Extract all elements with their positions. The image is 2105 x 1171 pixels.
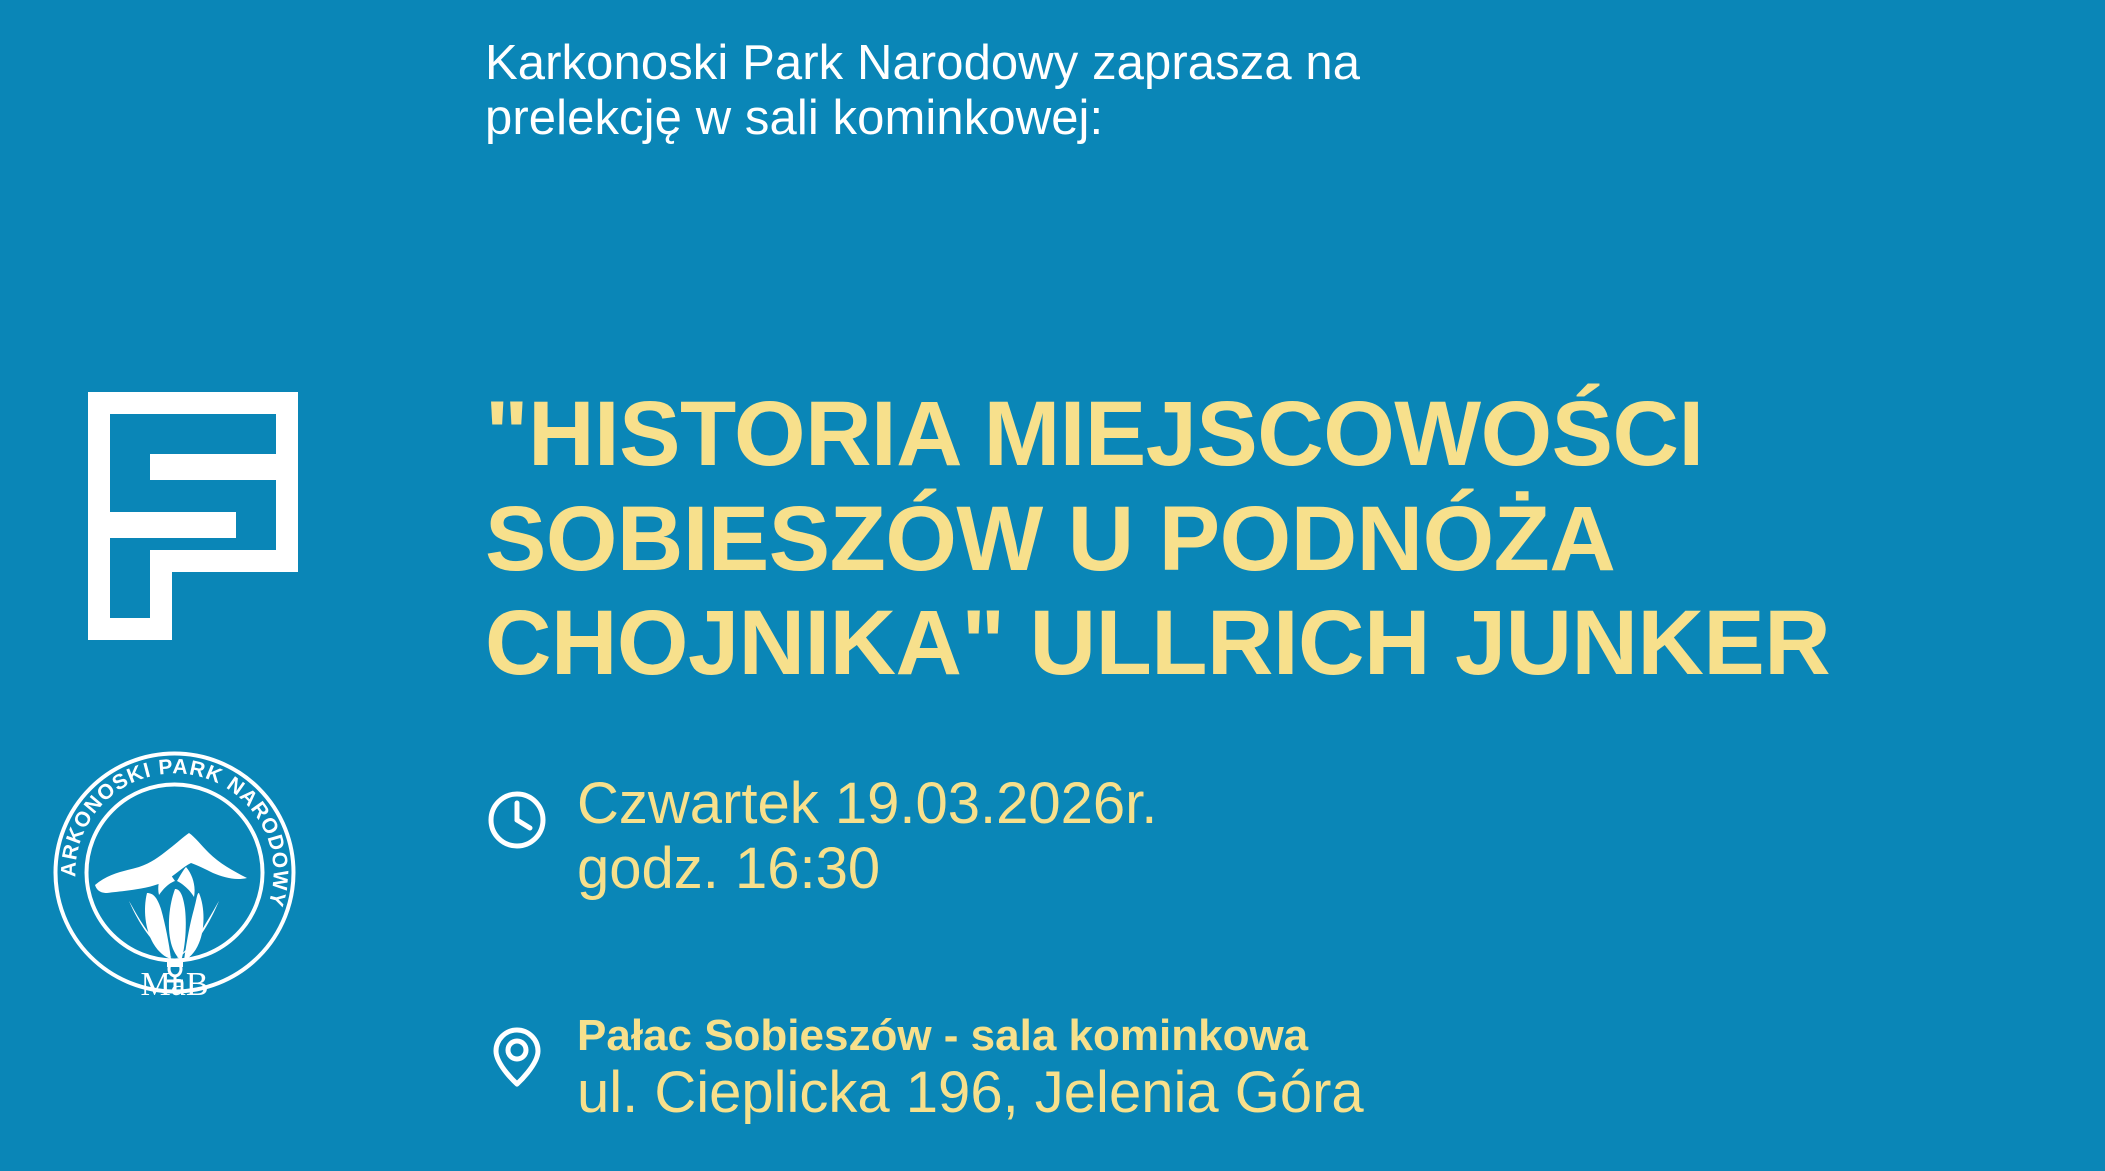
date-time-text: Czwartek 19.03.2026r. godz. 16:30 [577, 772, 1157, 902]
intro-line-2: prelekcję w sali kominkowej: [485, 91, 1585, 146]
map-pin-icon [485, 1024, 549, 1093]
location-text: Pałac Sobieszów - sala kominkowa ul. Cie… [577, 1010, 1364, 1126]
intro-line-1: Karkonoski Park Narodowy zaprasza na [485, 36, 1585, 91]
f-monogram-logo [88, 392, 298, 640]
logo-column: KARKONOSKI PARK NARODOWY [0, 0, 470, 1171]
seal-mab-label: MaB [141, 966, 209, 1000]
location-row: Pałac Sobieszów - sala kominkowa ul. Cie… [485, 1010, 1364, 1126]
event-title: "HISTORIA MIEJSCOWOŚCI SOBIESZÓW U PODNÓ… [485, 382, 2075, 697]
date-line: Czwartek 19.03.2026r. [577, 772, 1157, 837]
event-title-line-1: "HISTORIA MIEJSCOWOŚCI [485, 382, 2075, 487]
event-title-line-3: CHOJNIKA" ULLRICH JUNKER [485, 591, 2075, 696]
kpn-seal-logo: KARKONOSKI PARK NARODOWY [47, 745, 302, 1000]
venue-line: Pałac Sobieszów - sala kominkowa [577, 1010, 1364, 1061]
date-time-row: Czwartek 19.03.2026r. godz. 16:30 [485, 772, 1157, 902]
seal-ring-label: KARKONOSKI PARK NARODOWY [47, 745, 292, 910]
clock-icon [485, 788, 549, 857]
invitation-intro: Karkonoski Park Narodowy zaprasza na pre… [485, 36, 1585, 147]
address-line: ul. Cieplicka 196, Jelenia Góra [577, 1061, 1364, 1126]
time-line: godz. 16:30 [577, 837, 1157, 902]
content-column: Karkonoski Park Narodowy zaprasza na pre… [485, 0, 2105, 1171]
poster-canvas: KARKONOSKI PARK NARODOWY [0, 0, 2105, 1171]
event-title-line-2: SOBIESZÓW U PODNÓŻA [485, 487, 2075, 592]
